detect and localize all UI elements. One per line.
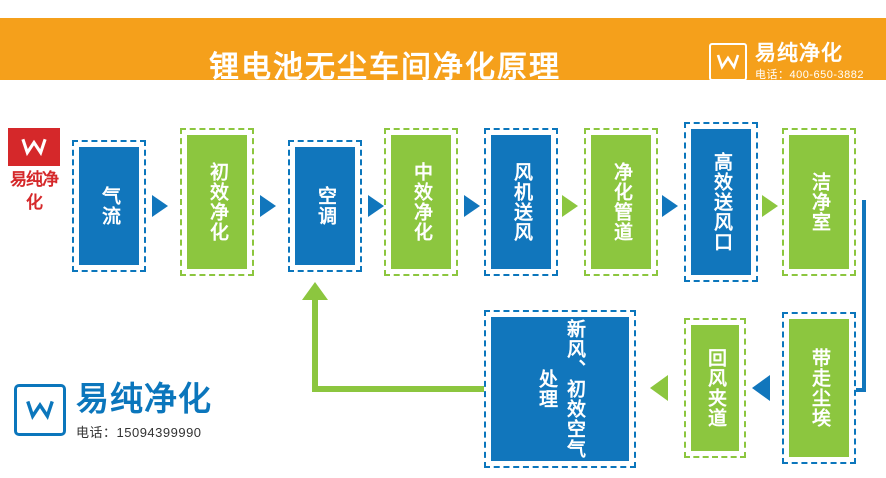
connector-cleanroom-down — [862, 200, 866, 392]
arrow-returnduct-to-fresh — [650, 375, 668, 401]
arrow-ac-to-medium — [368, 195, 384, 217]
flow-node-fresh-air-treatment[interactable]: 新风、初效空气处理 — [484, 310, 636, 468]
seal-w-logo-icon — [8, 128, 60, 166]
arrow-fan-to-duct — [562, 195, 578, 217]
page-title: 锂电池无尘车间净化原理 — [150, 46, 620, 90]
brand-name: 易纯净化 — [755, 42, 864, 66]
flow-node-label: 带走尘埃 — [806, 348, 832, 428]
brand-phone: 电话：400-650-3882 — [755, 68, 864, 82]
header-brand: 易纯净化 电话：400-650-3882 — [709, 42, 864, 82]
flow-node-return-air-duct[interactable]: 回风夹道 — [684, 318, 746, 458]
arrow-airflow-to-primary — [152, 195, 168, 217]
arrow-primary-to-ac — [260, 195, 276, 217]
flow-node-hepa-outlet[interactable]: 高效送风口 — [684, 122, 758, 282]
footer-logo-phone: 电话：15094399990 — [76, 422, 212, 441]
flow-node-label: 中效净化 — [408, 162, 434, 242]
arrow-duct-to-hepa — [662, 195, 678, 217]
flow-node-label: 气流 — [96, 186, 122, 226]
flow-node-air-conditioner[interactable]: 空调 — [288, 140, 362, 272]
flow-node-medium-purification[interactable]: 中效净化 — [384, 128, 458, 276]
flow-node-label: 回风夹道 — [702, 348, 728, 428]
flow-node-label: 新风、初效空气处理 — [532, 319, 588, 459]
arrow-dust-to-returnduct — [752, 375, 770, 401]
flow-node-label: 净化管道 — [608, 162, 634, 242]
flow-node-label: 空调 — [312, 186, 338, 226]
flow-node-airflow[interactable]: 气流 — [72, 140, 146, 272]
flow-node-carry-dust[interactable]: 带走尘埃 — [782, 312, 856, 464]
header-banner: 锂电池无尘车间净化原理 易纯净化 电话：400-650-3882 — [0, 18, 886, 80]
company-seal: 易纯净化 — [8, 128, 60, 214]
footer-logo-name: 易纯净化 — [76, 380, 212, 418]
connector-fresh-to-left — [312, 386, 484, 392]
flow-node-primary-purification[interactable]: 初效净化 — [180, 128, 254, 276]
flow-node-label: 洁净室 — [806, 172, 832, 232]
w-logo-icon — [709, 43, 747, 81]
flow-node-fan-supply[interactable]: 风机送风 — [484, 128, 558, 276]
flow-node-label: 风机送风 — [508, 162, 534, 242]
arrow-up-to-ac — [302, 282, 328, 300]
arrow-medium-to-fan — [464, 195, 480, 217]
footer-logo: 易纯净化 电话：15094399990 — [14, 380, 212, 441]
flow-node-cleanroom[interactable]: 洁净室 — [782, 128, 856, 276]
flow-node-purification-duct[interactable]: 净化管道 — [584, 128, 658, 276]
seal-text: 易纯净化 — [8, 168, 60, 214]
arrow-hepa-to-cleanroom — [762, 195, 778, 217]
flow-node-label: 高效送风口 — [708, 152, 734, 252]
connector-left-up — [312, 300, 318, 392]
footer-w-logo-icon — [14, 384, 66, 436]
flow-node-label: 初效净化 — [204, 162, 230, 242]
